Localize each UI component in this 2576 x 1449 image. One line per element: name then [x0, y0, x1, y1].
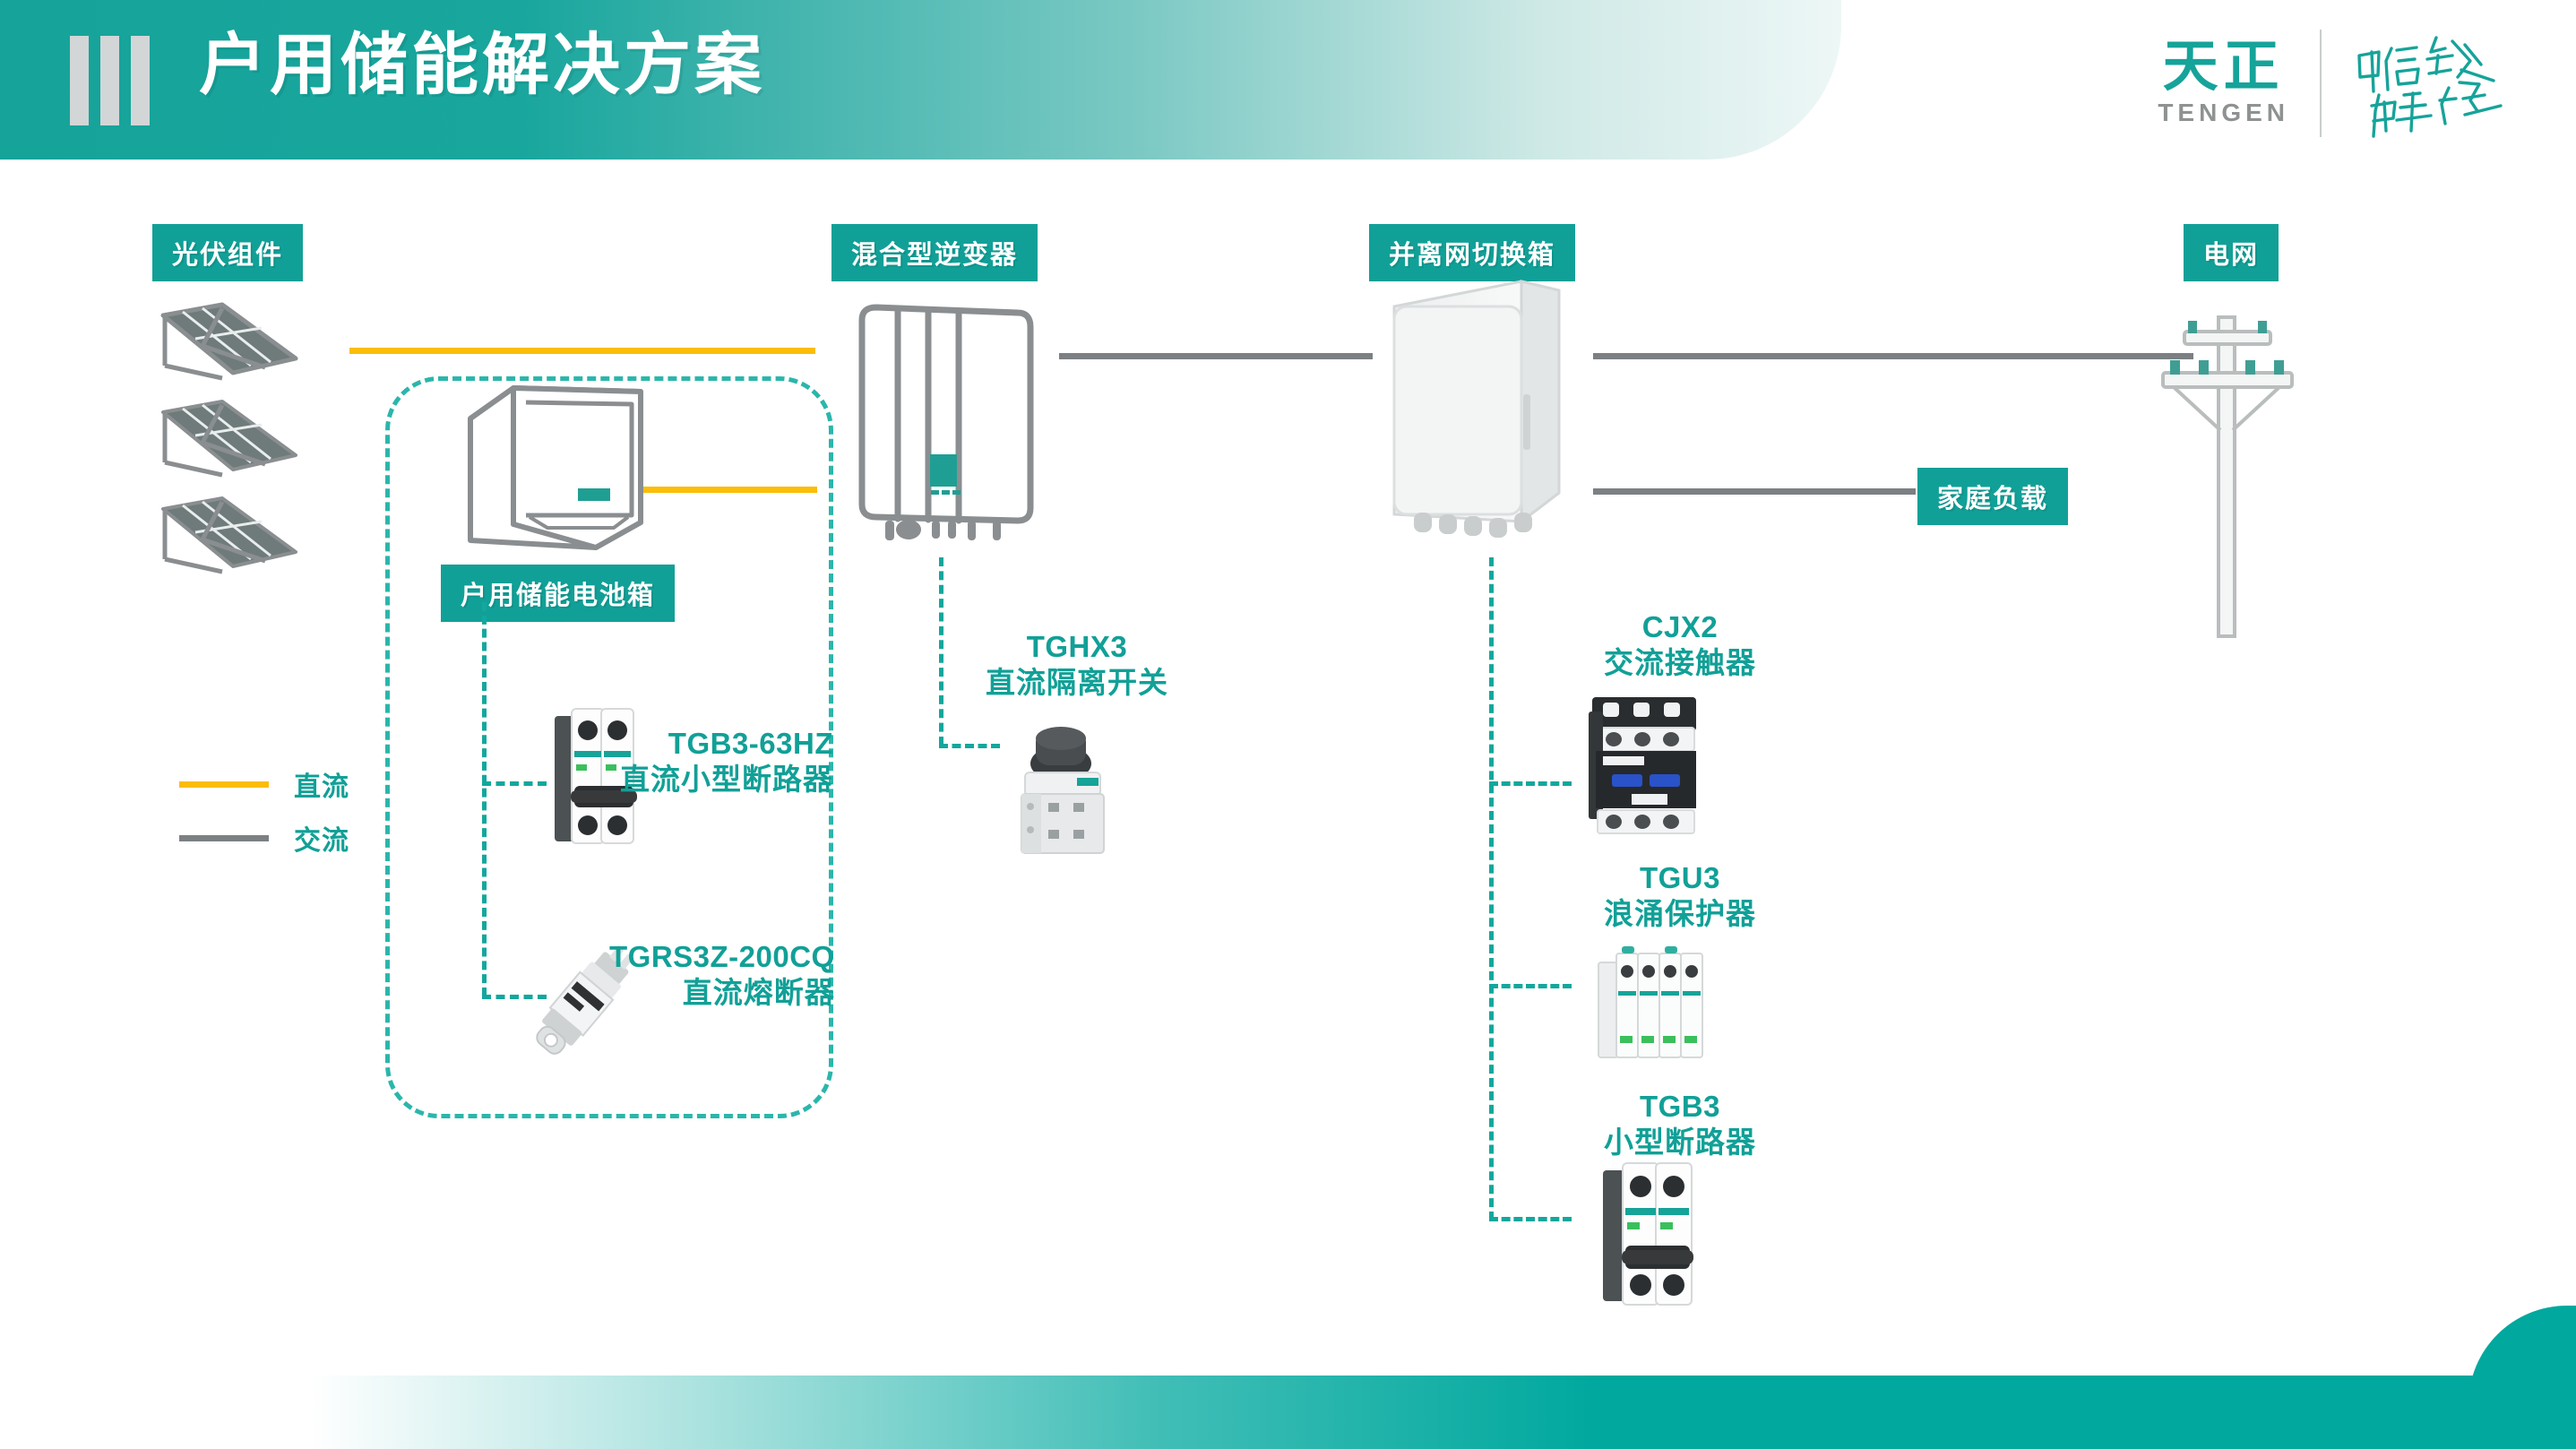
header-bar-1: [70, 36, 89, 125]
brand-logo: 天正 TENGEN: [2158, 25, 2522, 142]
legend-item-dc: 直流: [179, 757, 349, 811]
switch-box-illustration: [1387, 278, 1566, 547]
legend-label-ac: 交流: [294, 818, 349, 858]
label-dc-fuse: TGRS3Z-200CQ 直流熔断器: [609, 939, 835, 1012]
mcb-model: TGB3: [1604, 1089, 1756, 1125]
legend: 直流 交流: [179, 757, 349, 865]
section-chip-pv: 光伏组件: [152, 224, 303, 281]
logo-chinese-name: 天正: [2163, 39, 2285, 95]
dash-battery-trunk: [482, 602, 487, 996]
diagram-canvas: 户用储能解决方案 天正 TENGEN: [0, 0, 2576, 1449]
dc-fuse-desc: 直流熔断器: [609, 975, 835, 1011]
dash-branch-dc-breaker: [482, 781, 547, 786]
dc-fuse-model: TGRS3Z-200CQ: [609, 939, 835, 975]
dash-branch-mcb: [1489, 1217, 1572, 1221]
section-chip-home-load: 家庭负载: [1917, 468, 2068, 525]
dash-switchbox-trunk: [1489, 557, 1494, 1220]
ac-contactor-image: [1572, 688, 1716, 845]
ac-contactor-model: CJX2: [1604, 609, 1756, 645]
dash-branch-contactor: [1489, 781, 1572, 786]
legend-swatch-ac: [179, 835, 269, 841]
header-bar-2: [100, 36, 119, 125]
dc-isolator-model: TGHX3: [986, 629, 1168, 665]
section-chip-inverter: 混合型逆变器: [831, 224, 1038, 281]
legend-item-ac: 交流: [179, 811, 349, 865]
label-spd: TGU3 浪涌保护器: [1604, 860, 1756, 933]
wire-dc-pv-to-inverter: [349, 348, 815, 354]
label-ac-contactor: CJX2 交流接触器: [1604, 609, 1756, 682]
dc-breaker-model: TGB3-63HZ: [620, 726, 833, 762]
logo-slogan-handwriting: [2352, 25, 2522, 142]
footer-band: [0, 1376, 2576, 1449]
spd-desc: 浪涌保护器: [1604, 896, 1756, 932]
dc-breaker-desc: 直流小型断路器: [620, 762, 833, 798]
wire-ac-switchbox-to-homeload: [1593, 488, 1916, 495]
dc-isolator-desc: 直流隔离开关: [986, 665, 1168, 701]
ac-contactor-desc: 交流接触器: [1604, 645, 1756, 681]
header-logo-bars: [70, 36, 168, 125]
battery-cabinet-illustration: [461, 381, 650, 556]
logo-divider: [2320, 30, 2322, 137]
section-chip-grid: 电网: [2184, 224, 2279, 281]
label-dc-isolator: TGHX3 直流隔离开关: [986, 629, 1168, 702]
label-mcb: TGB3 小型断路器: [1604, 1089, 1756, 1161]
logo-english-name: TENGEN: [2158, 99, 2289, 127]
dash-branch-spd: [1489, 984, 1572, 988]
mcb-image: [1590, 1156, 1707, 1313]
spd-model: TGU3: [1604, 860, 1756, 896]
footer-corner-curve: [2468, 1306, 2576, 1449]
label-dc-breaker: TGB3-63HZ 直流小型断路器: [620, 726, 833, 798]
legend-label-dc: 直流: [294, 764, 349, 804]
dash-inverter-trunk: [939, 557, 943, 746]
wire-ac-switchbox-to-grid: [1593, 353, 2193, 359]
utility-pole-illustration: [2150, 296, 2303, 636]
dc-isolator-image: [1002, 717, 1118, 860]
hybrid-inverter-illustration: [842, 300, 1057, 547]
page-title: 户用储能解决方案: [199, 22, 765, 109]
pv-panel-array: [143, 296, 349, 591]
section-chip-switch-box: 并离网切换箱: [1369, 224, 1575, 281]
spd-image: [1586, 939, 1711, 1069]
dash-branch-dc-isolator: [939, 744, 1000, 748]
legend-swatch-dc: [179, 781, 269, 788]
logo-mark: 天正 TENGEN: [2158, 39, 2289, 127]
wire-ac-inverter-to-switchbox: [1059, 353, 1373, 359]
header-bar-3: [131, 36, 150, 125]
